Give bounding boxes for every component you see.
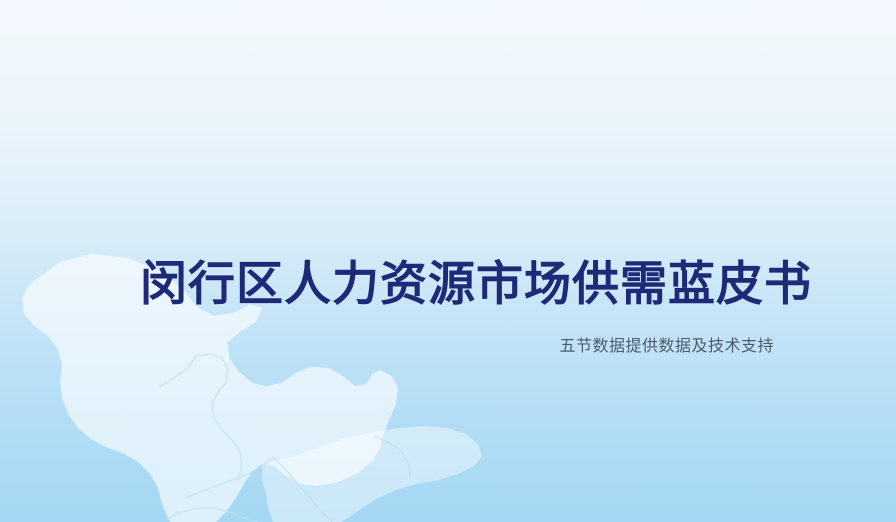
cover-slide: 闵行区人力资源市场供需蓝皮书 五节数据提供数据及技术支持 [0, 0, 896, 522]
page-subtitle: 五节数据提供数据及技术支持 [382, 334, 774, 358]
page-title: 闵行区人力资源市场供需蓝皮书 [140, 255, 782, 315]
title-block: 闵行区人力资源市场供需蓝皮书 五节数据提供数据及技术支持 [0, 0, 896, 522]
